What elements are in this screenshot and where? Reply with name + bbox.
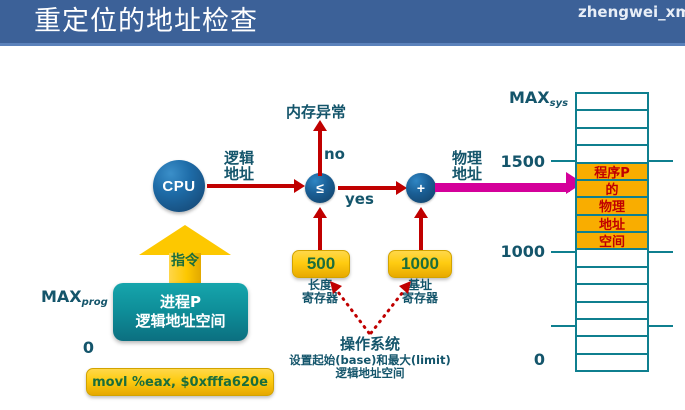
physical-memory-column: 程序P的物理地址空间 (575, 92, 649, 370)
max-sys-label: MAXsys (509, 88, 568, 107)
memory-axis-1500: 1500 (497, 152, 545, 171)
memory-axis-1000: 1000 (497, 242, 545, 261)
max-sys-text: MAX (509, 88, 550, 107)
os-note-line3: 逻辑地址空间 (280, 367, 460, 379)
process-logical-space-box: 进程P 逻辑地址空间 (113, 283, 248, 341)
instruction-arrow-label: 指令 (142, 250, 228, 270)
max-prog-subscript: prog (82, 297, 108, 308)
max-prog-label: MAXprog (41, 287, 108, 306)
memory-cell-free (575, 353, 649, 372)
max-sys-subscript: sys (550, 98, 568, 109)
max-prog-text: MAX (41, 287, 82, 306)
prog-zero-label: 0 (72, 338, 94, 357)
movl-instruction-box: movl %eax, $0xfffa620e (86, 368, 274, 396)
process-box-line1: 进程P (160, 293, 201, 312)
slide-canvas: 重定位的地址检查 zhengwei_xm CPU 逻辑 地址 ≤ no 内存异常… (0, 0, 685, 410)
os-note-title: 操作系统 (305, 336, 435, 352)
process-box-line2: 逻辑地址空间 (135, 312, 225, 331)
os-note-line2: 设置起始(base)和最大(limit) (280, 354, 460, 366)
memory-axis-0: 0 (527, 350, 545, 369)
